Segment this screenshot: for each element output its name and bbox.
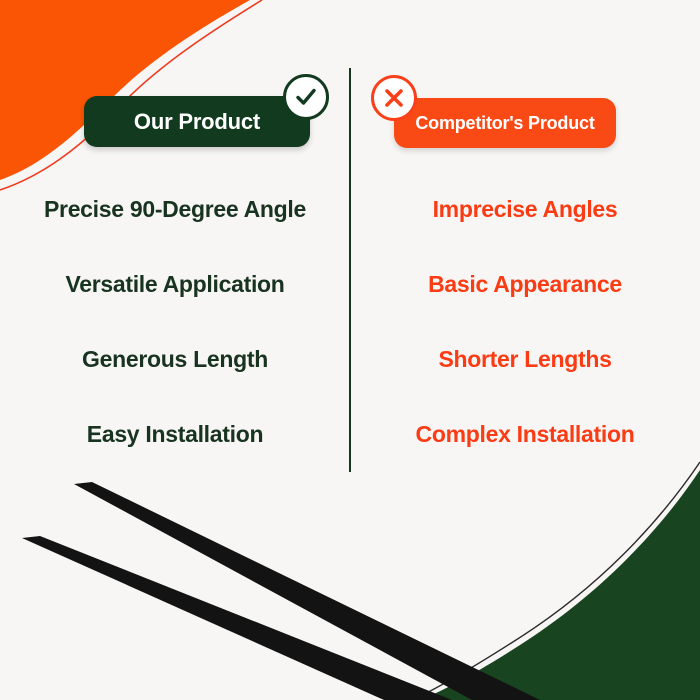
our-product-badge[interactable]: Our Product [84,96,310,147]
list-item: Basic Appearance [350,247,700,322]
black-angle-bar-lower [22,536,452,700]
list-item: Generous Length [0,322,350,397]
list-item: Precise 90-Degree Angle [0,172,350,247]
cross-circle-icon [371,75,417,121]
competitor-product-badge[interactable]: Competitor's Product [394,98,616,148]
red-thin-wave-line [0,0,262,190]
competitor-product-badge-label: Competitor's Product [415,113,594,134]
feature-comparison-columns: Precise 90-Degree Angle Versatile Applic… [0,172,700,472]
list-item: Easy Installation [0,397,350,472]
our-product-column: Precise 90-Degree Angle Versatile Applic… [0,172,350,472]
our-product-badge-label: Our Product [134,109,260,135]
comparison-infographic: Our Product Competitor's Product Precise… [0,0,700,700]
competitor-product-column: Imprecise Angles Basic Appearance Shorte… [350,172,700,472]
dark-thin-curve-line [412,462,700,700]
black-angle-bar-upper [74,482,540,700]
check-circle-icon [283,74,329,120]
list-item: Complex Installation [350,397,700,472]
list-item: Imprecise Angles [350,172,700,247]
list-item: Shorter Lengths [350,322,700,397]
list-item: Versatile Application [0,247,350,322]
dark-green-curved-corner [420,470,700,700]
orange-wave-corner [0,0,250,180]
